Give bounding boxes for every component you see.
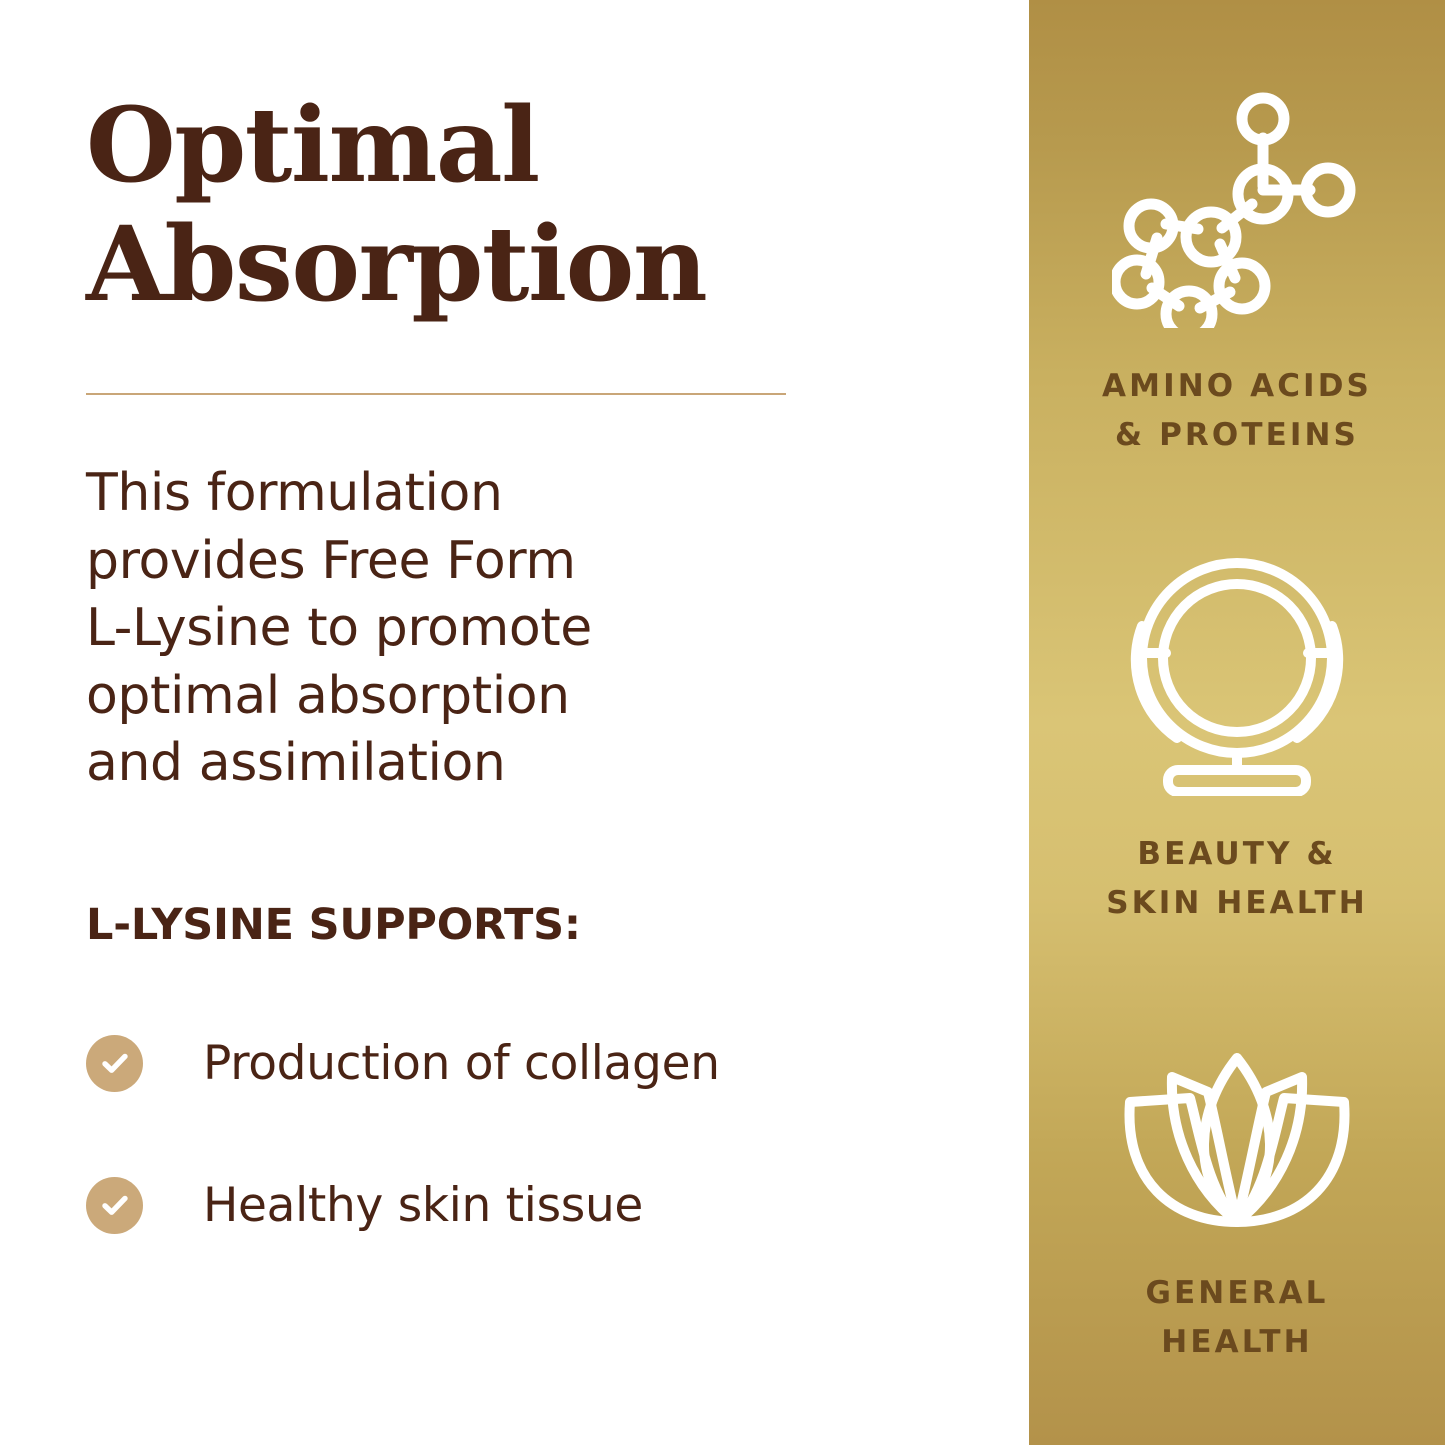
check-icon xyxy=(86,1177,143,1234)
molecule-icon xyxy=(1112,78,1362,328)
product-benefits-panel: Optimal Absorption This formulation prov… xyxy=(0,0,1445,1445)
feature-general-health: GENERAL HEALTH xyxy=(1029,1040,1445,1367)
supports-heading: L-LYSINE SUPPORTS: xyxy=(86,900,581,950)
left-content-column: Optimal Absorption This formulation prov… xyxy=(0,0,1029,1445)
page-title: Optimal Absorption xyxy=(86,86,906,325)
feature-label: AMINO ACIDS & PROTEINS xyxy=(1102,362,1372,460)
title-divider xyxy=(86,393,786,395)
list-item-label: Healthy skin tissue xyxy=(203,1178,643,1233)
list-item-label: Production of collagen xyxy=(203,1036,720,1091)
description-paragraph: This formulation provides Free Form L-Ly… xyxy=(86,460,686,798)
list-item: Production of collagen xyxy=(86,1028,946,1098)
feature-label: GENERAL HEALTH xyxy=(1145,1269,1328,1367)
vanity-mirror-icon xyxy=(1122,548,1352,796)
feature-amino-acids: AMINO ACIDS & PROTEINS xyxy=(1029,78,1445,460)
lotus-flower-icon xyxy=(1112,1040,1362,1235)
check-icon xyxy=(86,1035,143,1092)
feature-beauty-skin: BEAUTY & SKIN HEALTH xyxy=(1029,548,1445,928)
benefits-list: Production of collagen Healthy skin tiss… xyxy=(86,1028,946,1312)
feature-sidebar: AMINO ACIDS & PROTEINS xyxy=(1029,0,1445,1445)
list-item: Healthy skin tissue xyxy=(86,1170,946,1240)
feature-label: BEAUTY & SKIN HEALTH xyxy=(1106,830,1368,928)
